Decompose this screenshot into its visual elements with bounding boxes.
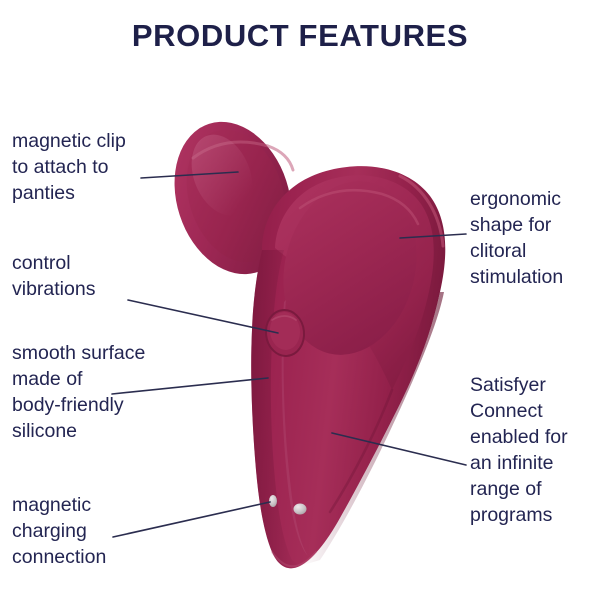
leader-magnetic-charging xyxy=(113,502,270,537)
product-features-infographic: PRODUCT FEATURES xyxy=(0,0,600,600)
leader-lines xyxy=(0,0,600,600)
leader-control-vibrations xyxy=(128,300,278,333)
leader-magnetic-clip xyxy=(141,172,238,178)
leader-smooth-surface xyxy=(112,378,268,394)
leader-satisfyer-connect xyxy=(332,433,466,465)
leader-ergonomic-shape xyxy=(400,234,466,238)
